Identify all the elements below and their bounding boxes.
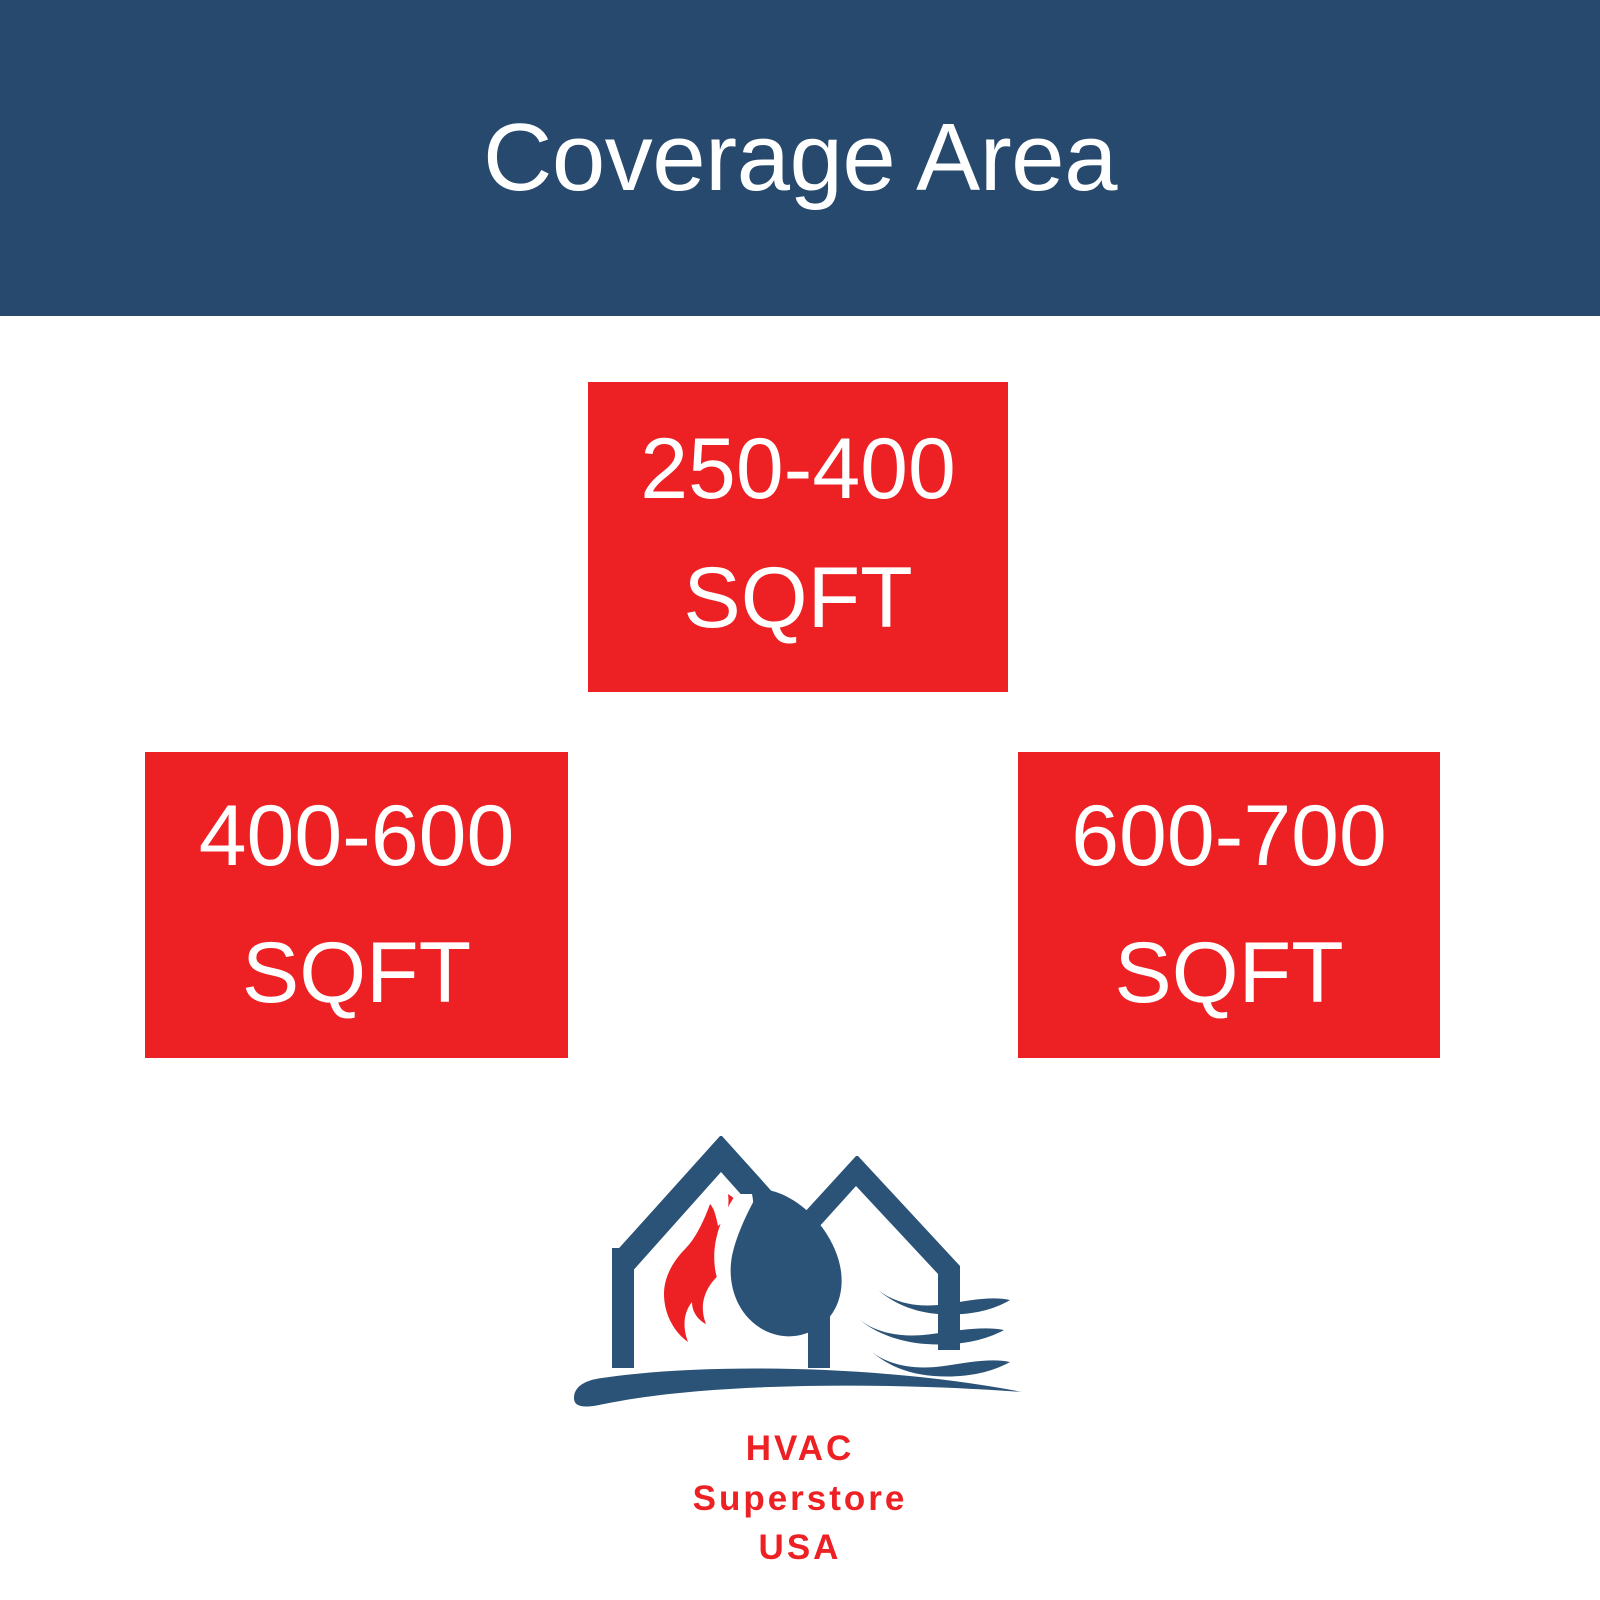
coverage-range-label: 600-700 — [1071, 790, 1387, 883]
logo-wordmark: HVAC Superstore USA — [693, 1424, 908, 1573]
airflow-wave-middle-icon — [860, 1320, 1004, 1344]
logo-line-superstore: Superstore — [693, 1474, 908, 1524]
coverage-range-label: 400-600 — [199, 790, 515, 883]
header-banner: Coverage Area — [0, 0, 1600, 316]
coverage-box-600-700: 600-700 SQFT — [1018, 752, 1440, 1058]
coverage-unit-label: SQFT — [242, 927, 471, 1020]
airflow-wave-bottom-icon — [872, 1352, 1010, 1376]
coverage-unit-label: SQFT — [683, 552, 912, 645]
coverage-range-label: 250-400 — [640, 423, 956, 516]
brand-logo: HVAC Superstore USA — [520, 1098, 1080, 1598]
page-title: Coverage Area — [483, 110, 1117, 206]
hvac-superstore-logo-icon — [560, 1098, 1040, 1418]
logo-line-usa: USA — [693, 1523, 908, 1573]
coverage-box-400-600: 400-600 SQFT — [145, 752, 568, 1058]
coverage-box-250-400: 250-400 SQFT — [588, 382, 1008, 692]
logo-line-hvac: HVAC — [693, 1424, 908, 1474]
coverage-unit-label: SQFT — [1114, 927, 1343, 1020]
